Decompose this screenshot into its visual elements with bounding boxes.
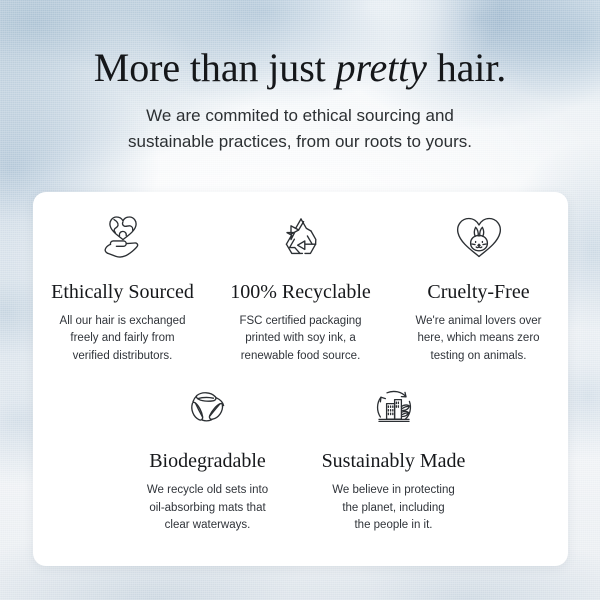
three-leaves-recycle-icon [121, 377, 295, 439]
feature-description: We're animal lovers over here, which mea… [396, 304, 562, 365]
feature-title: Sustainably Made [307, 439, 481, 473]
headline-text-after: hair. [427, 45, 506, 90]
feature-biodegradable: Biodegradable We recycle old sets into o… [115, 377, 301, 534]
feature-title: Biodegradable [121, 439, 295, 473]
feature-description-line: oil-absorbing mats that [149, 502, 265, 514]
feature-description: FSC certified packaging printed with soy… [218, 304, 384, 365]
feature-description-line: printed with soy ink, a [245, 332, 356, 344]
heart-bunny-icon [396, 208, 562, 270]
page-subtitle: We are commited to ethical sourcing and … [0, 89, 600, 155]
feature-description-line: renewable food source. [241, 350, 361, 362]
page-title: More than just pretty hair. [0, 0, 600, 89]
feature-description-line: We believe in protecting [332, 484, 455, 496]
headline-text-before: More than just [94, 45, 336, 90]
hand-holding-heart-globe-icon [40, 208, 206, 270]
features-row-top: Ethically Sourced All our hair is exchan… [33, 192, 568, 365]
recycling-arrows-icon [218, 208, 384, 270]
feature-description: All our hair is exchanged freely and fai… [40, 304, 206, 365]
features-card: Ethically Sourced All our hair is exchan… [33, 192, 568, 566]
feature-description-line: the planet, including [342, 502, 444, 514]
subtitle-line-2: sustainable practices, from our roots to… [0, 129, 600, 155]
feature-description-line: We're animal lovers over [416, 315, 542, 327]
feature-ethically-sourced: Ethically Sourced All our hair is exchan… [34, 208, 212, 365]
feature-description-line: All our hair is exchanged [60, 315, 186, 327]
feature-description-line: freely and fairly from [70, 332, 174, 344]
feature-sustainably-made: Sustainably Made We believe in protectin… [301, 377, 487, 534]
header: More than just pretty hair. We are commi… [0, 0, 600, 155]
feature-100-recyclable: 100% Recyclable FSC certified packaging … [212, 208, 390, 365]
feature-description-line: here, which means zero [417, 332, 539, 344]
feature-title: Ethically Sourced [40, 270, 206, 304]
promo-page: More than just pretty hair. We are commi… [0, 0, 600, 600]
feature-cruelty-free: Cruelty-Free We're animal lovers over he… [390, 208, 568, 365]
features-row-bottom: Biodegradable We recycle old sets into o… [33, 365, 568, 534]
feature-description-line: clear waterways. [165, 519, 251, 531]
feature-description: We believe in protecting the planet, inc… [307, 473, 481, 534]
headline-emphasis: pretty [336, 45, 427, 90]
feature-description-line: FSC certified packaging [239, 315, 361, 327]
feature-title: Cruelty-Free [396, 270, 562, 304]
feature-description-line: the people in it. [354, 519, 432, 531]
feature-description: We recycle old sets into oil-absorbing m… [121, 473, 295, 534]
feature-description-line: We recycle old sets into [147, 484, 268, 496]
feature-title: 100% Recyclable [218, 270, 384, 304]
feature-description-line: testing on animals. [431, 350, 527, 362]
subtitle-line-1: We are commited to ethical sourcing and [0, 103, 600, 129]
eco-factory-buildings-icon [307, 377, 481, 439]
feature-description-line: verified distributors. [73, 350, 173, 362]
